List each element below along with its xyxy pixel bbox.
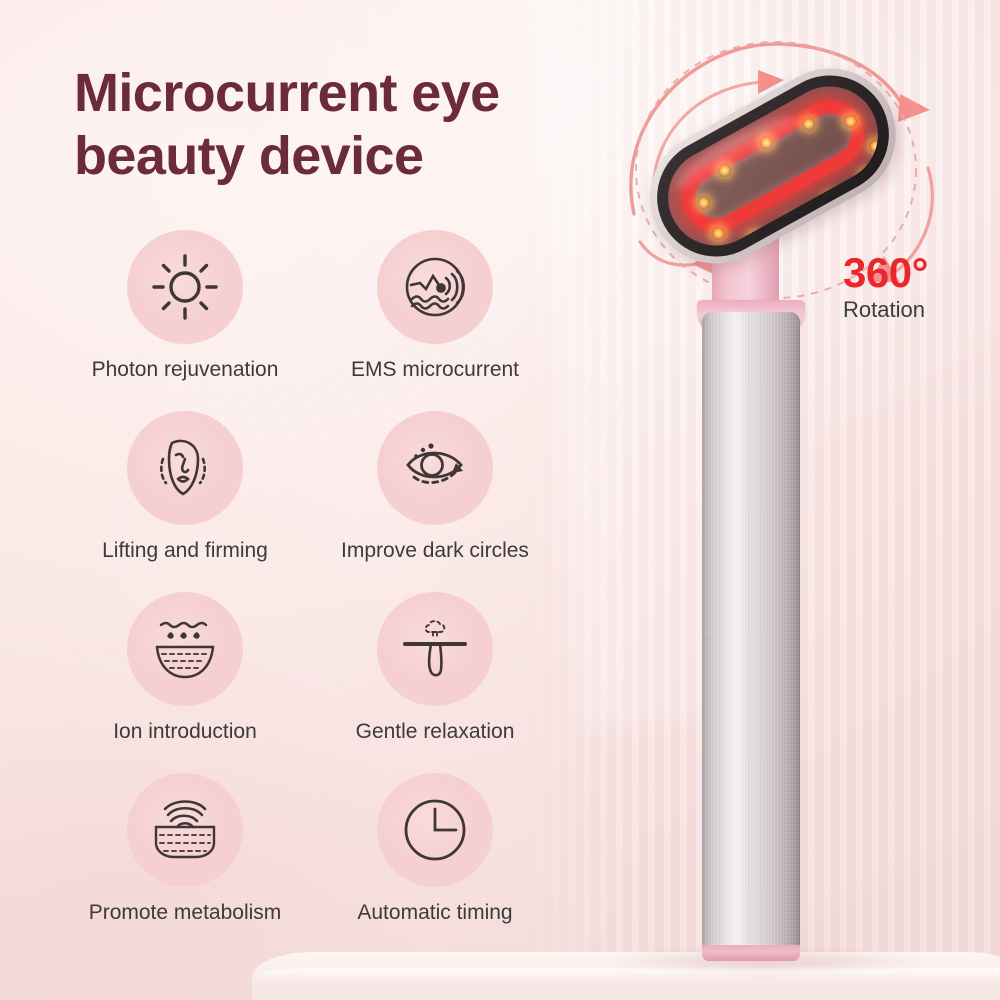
feature-row: Promote metabolism Automatic timing <box>60 773 560 925</box>
face-lifting-icon <box>127 411 243 525</box>
feature-item-improve-dark-circles: Improve dark circles <box>310 411 560 563</box>
rotation-callout: 360° Rotation <box>843 252 928 323</box>
eye-icon <box>377 411 493 525</box>
sun-icon <box>127 230 243 344</box>
rotation-callout-label: Rotation <box>843 297 928 323</box>
led-dot <box>867 137 885 155</box>
feature-item-promote-metabolism: Promote metabolism <box>60 773 310 925</box>
feature-item-lifting-and-firming: Lifting and firming <box>60 411 310 563</box>
skin-layers-waves-icon <box>127 773 243 887</box>
handle-highlight <box>722 312 747 957</box>
ion-absorption-icon <box>127 592 243 706</box>
led-dot <box>822 192 840 210</box>
led-dot <box>784 215 802 233</box>
device-handle <box>702 312 800 957</box>
feature-label: Lifting and firming <box>102 539 268 563</box>
rotation-degrees: 360° <box>843 252 928 294</box>
device-handle-base <box>702 945 800 961</box>
feature-item-automatic-timing: Automatic timing <box>310 773 560 925</box>
feature-list: Photon rejuvenation EMS microcurr <box>60 230 560 954</box>
feature-label: Ion introduction <box>113 720 257 744</box>
handle-texture <box>702 312 800 957</box>
ems-wave-signal-icon <box>377 230 493 344</box>
feature-label: Promote metabolism <box>89 901 282 925</box>
led-dot <box>746 229 764 247</box>
feature-row: Ion introduction Gentle relaxation <box>60 592 560 744</box>
feature-row: Lifting and firming Improve dark circles <box>60 411 560 563</box>
feature-item-gentle-relaxation: Gentle relaxation <box>310 592 560 744</box>
device-head-rim <box>636 54 910 277</box>
feature-row: Photon rejuvenation EMS microcurr <box>60 230 560 382</box>
feature-label: Automatic timing <box>357 901 512 925</box>
feature-item-photon-rejuvenation: Photon rejuvenation <box>60 230 310 382</box>
feature-item-ion-introduction: Ion introduction <box>60 592 310 744</box>
feature-label: EMS microcurrent <box>351 358 519 382</box>
feature-label: Photon rejuvenation <box>92 358 279 382</box>
clock-icon <box>377 773 493 887</box>
product-infographic: Microcurrent eye beauty device <box>0 0 1000 1000</box>
led-dot <box>858 167 876 185</box>
feature-label: Improve dark circles <box>341 539 529 563</box>
feature-item-ems-microcurrent: EMS microcurrent <box>310 230 560 382</box>
pore-follicle-steam-icon <box>377 592 493 706</box>
feature-label: Gentle relaxation <box>356 720 515 744</box>
device-head-treatment-face <box>651 69 895 263</box>
